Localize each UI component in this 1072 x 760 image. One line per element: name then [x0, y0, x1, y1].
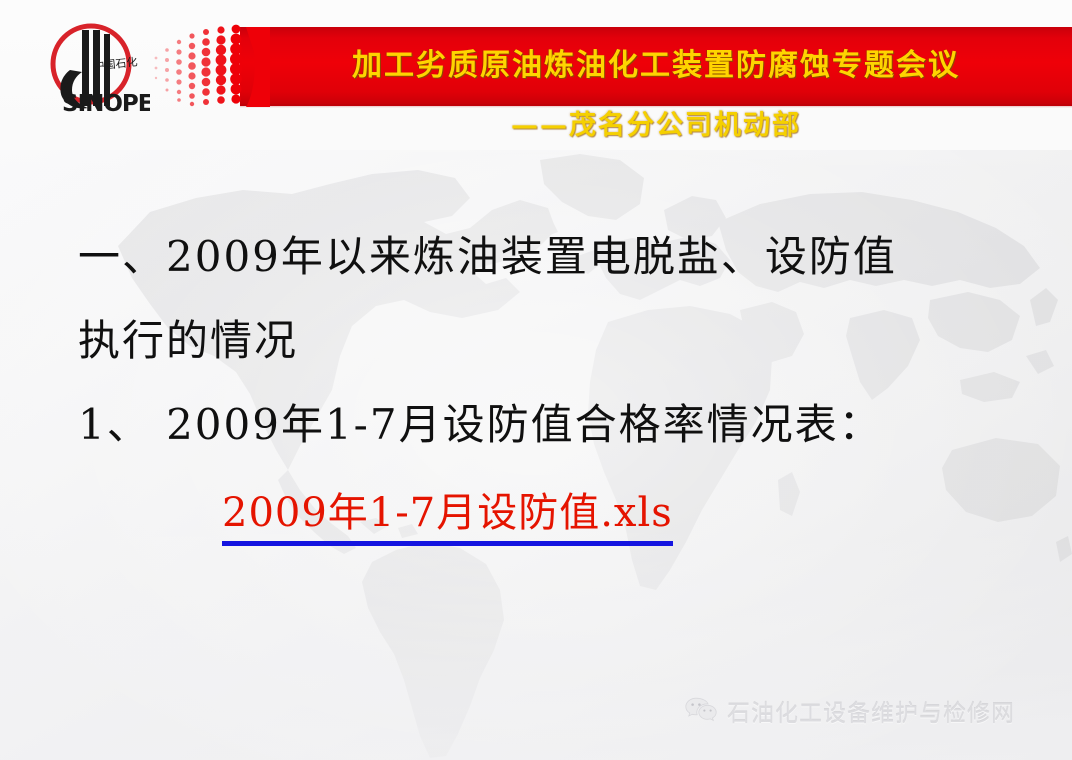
wechat-icon [684, 696, 718, 726]
body-line-3: 1、 2009年1-7月设防值合格率情况表： [78, 383, 1072, 467]
banner-subtitle: ——茂名分公司机动部 [240, 103, 1072, 142]
attachment-link-row: 2009年1-7月设防值.xls [0, 480, 1072, 546]
slide-header: SINOPEC 中国石化 [0, 0, 1072, 150]
body-line-2: 执行的情况 [78, 299, 1072, 383]
banner-title: 加工劣质原油炼油化工装置防腐蚀专题会议 [240, 40, 1072, 84]
sinopec-logo: SINOPEC 中国石化 [32, 14, 150, 130]
body-line-1: 一、2009年以来炼油装置电脱盐、设防值 [78, 215, 1072, 299]
xls-attachment-link[interactable]: 2009年1-7月设防值.xls [222, 480, 673, 546]
presentation-slide: SINOPEC 中国石化 [0, 0, 1072, 760]
site-watermark: 石油化工设备维护与检修网 [684, 694, 1015, 728]
svg-text:SINOPEC: SINOPEC [62, 91, 150, 117]
slide-body: 一、2009年以来炼油装置电脱盐、设防值 执行的情况 1、 2009年1-7月设… [0, 215, 1072, 467]
watermark-text: 石油化工设备维护与检修网 [727, 694, 1015, 728]
